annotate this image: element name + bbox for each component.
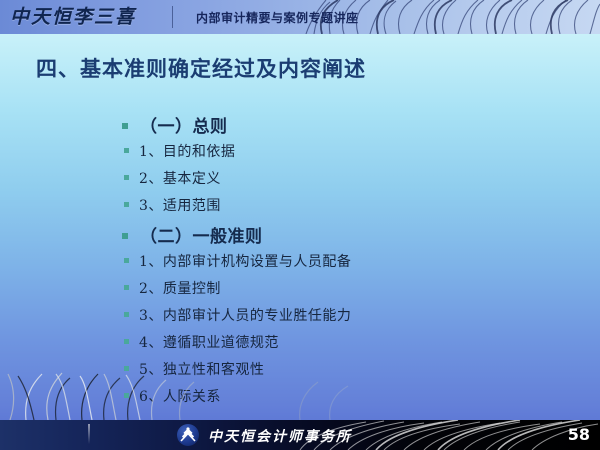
square-bullet-icon [124,339,129,344]
outline-item-label: 6、人际关系 [139,386,221,406]
square-bullet-icon [124,202,129,207]
outline-item-label: 2、质量控制 [139,278,221,298]
outline-item-row: 2、质量控制 [122,278,562,305]
page-number: 58 [568,425,590,444]
square-bullet-icon [124,312,129,317]
outline-item-row: 4、遵循职业道德规范 [122,332,562,359]
square-bullet-icon [124,175,129,180]
footer-accent-mark [88,424,90,444]
outline-item-label: 1、内部审计机构设置与人员配备 [139,251,351,271]
slide-header-band: 中天恒李三喜 内部审计精要与案例专题讲座 [0,0,600,34]
outline-item-label: 5、独立性和客观性 [139,359,264,379]
square-bullet-icon [122,233,128,239]
vertical-divider-icon [172,6,173,28]
brand-logo-text: 中天恒李三喜 [10,2,136,29]
outline-item-label: 4、遵循职业道德规范 [139,332,279,352]
presentation-slide: 中天恒李三喜 内部审计精要与案例专题讲座 四、基本准则确定经过及内容阐述 （一）… [0,0,600,450]
circular-mountain-logo-icon [177,424,199,446]
square-bullet-icon [124,366,129,371]
outline-item-row: 3、内部审计人员的专业胜任能力 [122,305,562,332]
outline-item-label: 3、内部审计人员的专业胜任能力 [139,305,351,325]
header-subtitle: 内部审计精要与案例专题讲座 [196,9,359,26]
outline-item-row: 1、目的和依据 [122,141,562,168]
slide-footer-band: 中天恒会计师事务所 58 [0,420,600,450]
outline-heading-label: （一）总则 [140,112,228,137]
outline-item-row: 2、基本定义 [122,168,562,195]
content-outline-list: （一）总则1、目的和依据2、基本定义3、适用范围（二）一般准则1、内部审计机构设… [122,112,562,413]
outline-item-label: 2、基本定义 [139,168,221,188]
square-bullet-icon [124,393,129,398]
outline-item-row: 5、独立性和客观性 [122,359,562,386]
outline-item-row: 1、内部审计机构设置与人员配备 [122,251,562,278]
outline-item-row: 6、人际关系 [122,386,562,413]
square-bullet-icon [124,285,129,290]
square-bullet-icon [124,258,129,263]
square-bullet-icon [124,148,129,153]
outline-item-label: 1、目的和依据 [139,141,235,161]
square-bullet-icon [122,123,128,129]
footer-company-name: 中天恒会计师事务所 [208,426,352,446]
outline-heading-row: （一）总则 [122,112,562,141]
outline-item-label: 3、适用范围 [139,195,221,215]
outline-heading-label: （二）一般准则 [140,222,263,247]
outline-item-row: 3、适用范围 [122,195,562,222]
page-title: 四、基本准则确定经过及内容阐述 [36,53,366,83]
outline-heading-row: （二）一般准则 [122,222,562,251]
